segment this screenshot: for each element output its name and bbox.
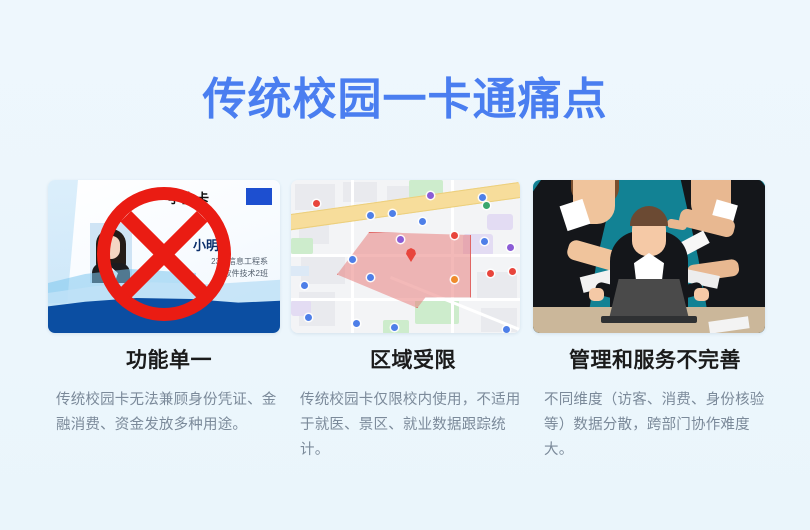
map-poi-marker: [353, 320, 360, 327]
caption-heading: 管理和服务不完善: [530, 348, 780, 374]
caption-area-limited: 区域受限 传统校园卡仅限校内使用，不适用于就医、景区、就业数据跟踪统计。: [288, 348, 538, 463]
map-poi-marker: [367, 274, 374, 281]
card-image-function-single: 学生卡 小明 23级信息工程系 软件技术2班: [48, 180, 280, 333]
office-overload-graphic: [533, 180, 765, 333]
map-poi-marker: [389, 210, 396, 217]
map-poi-marker: [313, 200, 320, 207]
central-worker-hair-top: [630, 206, 668, 226]
laptop-base: [601, 316, 697, 323]
map-poi-marker: [479, 194, 486, 201]
map-poi-marker: [427, 192, 434, 199]
map-poi-marker: [503, 326, 510, 333]
card-image-management-service: [533, 180, 765, 333]
map-poi-marker: [451, 232, 458, 239]
caption-function-single: 功能单一 传统校园卡无法兼顾身份凭证、金融消费、资金发放多种用途。: [44, 348, 294, 438]
map-poi-marker: [487, 270, 494, 277]
caption-body: 传统校园卡仅限校内使用，不适用于就医、景区、就业数据跟踪统计。: [288, 388, 538, 463]
map-poi-marker: [349, 256, 356, 263]
card-image-row: 学生卡 小明 23级信息工程系 软件技术2班: [0, 180, 810, 335]
map-poi-marker: [509, 268, 516, 275]
map-poi-marker: [481, 238, 488, 245]
map-water: [291, 266, 309, 276]
map-poi-marker: [367, 212, 374, 219]
caption-heading: 功能单一: [44, 348, 294, 374]
map-campus-zone: [337, 232, 471, 308]
laptop-screen: [609, 279, 689, 319]
prohibition-x-icon: [97, 187, 231, 321]
card-image-area-limited: [291, 180, 520, 333]
central-worker-hand-right: [694, 288, 709, 301]
page-title: 传统校园一卡通痛点: [0, 74, 810, 126]
caption-heading: 区域受限: [288, 348, 538, 374]
map-poi-marker: [419, 218, 426, 225]
map-poi-marker: [397, 236, 404, 243]
poster-page: 传统校园一卡通痛点 学生卡 小明 23级信息工程系 软件技术2班: [0, 0, 810, 530]
caption-management-service: 管理和服务不完善 不同维度（访客、消费、身份核验等）数据分散，跨部门协作难度大。: [530, 348, 780, 463]
map-poi-marker: [305, 314, 312, 321]
map-block: [477, 272, 517, 300]
map-greenspace: [291, 238, 313, 254]
map-poi-marker: [483, 202, 490, 209]
map-poi-marker: [391, 324, 398, 331]
map-graphic: [291, 180, 520, 333]
map-poi-marker: [451, 276, 458, 283]
map-poi-marker: [507, 244, 514, 251]
map-block: [343, 182, 377, 202]
caption-body: 不同维度（访客、消费、身份核验等）数据分散，跨部门协作难度大。: [530, 388, 780, 463]
map-poi-area: [487, 214, 513, 230]
central-worker-hand-left: [589, 288, 604, 301]
caption-body: 传统校园卡无法兼顾身份凭证、金融消费、资金发放多种用途。: [44, 388, 294, 438]
map-poi-marker: [301, 282, 308, 289]
card-blue-tab: [246, 188, 272, 205]
